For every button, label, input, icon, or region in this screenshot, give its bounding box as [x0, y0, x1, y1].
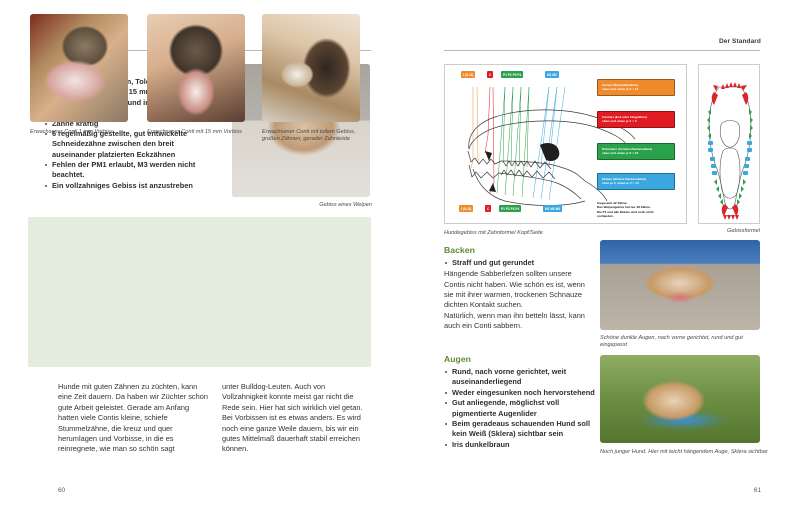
left-page: Kapitel 6 Kiefer/Zähne Vorbiss ideal 1 –…	[0, 0, 399, 527]
book-spread: Kapitel 6 Kiefer/Zähne Vorbiss ideal 1 –…	[0, 0, 799, 527]
page-number-right: 61	[754, 487, 761, 494]
caption-band-photo-2: Erwachsener Conti mit 15 mm Vorbiss	[147, 129, 251, 136]
note-line-4: vorhanden.	[597, 214, 683, 218]
photo-image	[262, 14, 360, 122]
tag-premolars-lower: P1 P2 P3 P4	[499, 205, 521, 212]
backen-bullet-list: Straff und gut gerundet	[444, 258, 594, 268]
legend-line-2: oben und unten je 8 = 16	[602, 151, 670, 155]
photo-image	[600, 355, 760, 443]
legend-line-2: oben und unten je 2 = 4	[602, 119, 670, 123]
legend-praemolare: Prämolare (Vordere Backenzähne) oben und…	[597, 143, 675, 160]
backen-paragraph-1: Hängende Sabberlefzen sollten unsere Con…	[444, 269, 594, 311]
heading-backen: Backen	[444, 245, 594, 255]
caption-young-dog: Noch junger Hund. Hier mit leicht hängen…	[600, 449, 770, 456]
caption-band-photo-1: Erwachsener Conti 1 mm Vorbiss	[30, 129, 134, 136]
heading-augen: Augen	[444, 354, 596, 364]
tag-premolars-upper: P1 P2 P3 P4	[501, 71, 523, 78]
list-item: Iris dunkelbraun	[444, 440, 596, 450]
list-item: Rund, nach vorne gerichtet, weit auseina…	[444, 367, 596, 387]
augen-bullet-list: Rund, nach vorne gerichtet, weit auseina…	[444, 367, 596, 450]
legend-line-2: oben und unten je 6 = 12	[602, 87, 670, 91]
caption-puppy-photo: Gebiss eines Welpen	[232, 202, 372, 209]
section-augen: Augen Rund, nach vorne gerichtet, weit a…	[444, 354, 596, 451]
diagram-dog-dentition: I (I1-I3) C P1 P2 P3 P4 M1 M2 I (I1-I3) …	[444, 64, 687, 224]
photo-adult-conti-15mm	[147, 14, 245, 122]
diagram-note: Insgesamt 42 Zähne. Das Welpengebiss hat…	[597, 201, 683, 218]
photo-young-dog	[600, 355, 760, 443]
photo-image	[30, 14, 128, 122]
list-item: Gut anliegende, möglichst voll pigmentie…	[444, 398, 596, 418]
body-text-column-left: Hunde mit guten Zähnen zu züchten, kann …	[58, 382, 210, 455]
running-head-right: Der Standard	[719, 38, 761, 45]
legend-molare: Molare (Hintere Backenzähne) oben je 2, …	[597, 173, 675, 190]
caption-dentition-diagram: Hundegebiss mit Zahnformel Kopf/Seite	[444, 230, 684, 237]
caption-gebissformel: Gebissformel	[698, 228, 760, 235]
tag-canine-upper: C	[487, 71, 493, 78]
diagram-gebissformel	[698, 64, 760, 224]
list-item: Fehlen der PM1 erlaubt, M3 werden nicht …	[44, 160, 214, 180]
section-backen: Backen Straff und gut gerundet Hängende …	[444, 245, 594, 332]
photo-image	[147, 14, 245, 122]
page-number-left: 60	[58, 487, 65, 494]
caption-band-photo-3: Erwachsener Conti mit tollem Gebiss, gro…	[262, 129, 366, 144]
photo-dark-eyes	[600, 240, 760, 330]
caption-dark-eyes: Schöne dunkle Augen, nach vorne gerichte…	[600, 335, 765, 350]
photo-image	[600, 240, 760, 330]
legend-incisivi: Incisivi (Schneidezähne) oben und unten …	[597, 79, 675, 96]
list-item: Weder eingesunken noch hervorstehend	[444, 388, 596, 398]
photo-adult-conti-1mm	[30, 14, 128, 122]
list-item: Beim geradeaus schauenden Hund soll kein…	[444, 419, 596, 439]
tag-canine-lower: C	[485, 205, 491, 212]
body-text-column-right: unter Bulldog-Leuten. Auch von Vollzahni…	[222, 382, 372, 455]
legend-line-2: oben je 2, unten je 3 = 10	[602, 181, 670, 185]
list-item: Ein vollzahniges Gebiss ist anzustreben	[44, 181, 214, 191]
header-rule-right	[444, 50, 760, 51]
backen-paragraph-2: Natürlich, wenn man ihn betteln lässt, k…	[444, 311, 594, 332]
tag-incisors-upper: I (I1-I3)	[461, 71, 475, 78]
right-page: Der Standard	[399, 0, 799, 527]
gebissformel-svg	[699, 65, 761, 225]
photo-adult-conti-good-dentition	[262, 14, 360, 122]
photo-band-green	[28, 217, 371, 367]
tag-molars-lower: M1 M2 M3	[543, 205, 562, 212]
tag-incisors-lower: I (I1-I3)	[459, 205, 473, 212]
legend-canines: Canines (Eck oder Fangzähne) oben und un…	[597, 111, 675, 128]
tag-molars-upper: M1 M2	[545, 71, 559, 78]
list-item: Straff und gut gerundet	[444, 258, 594, 268]
